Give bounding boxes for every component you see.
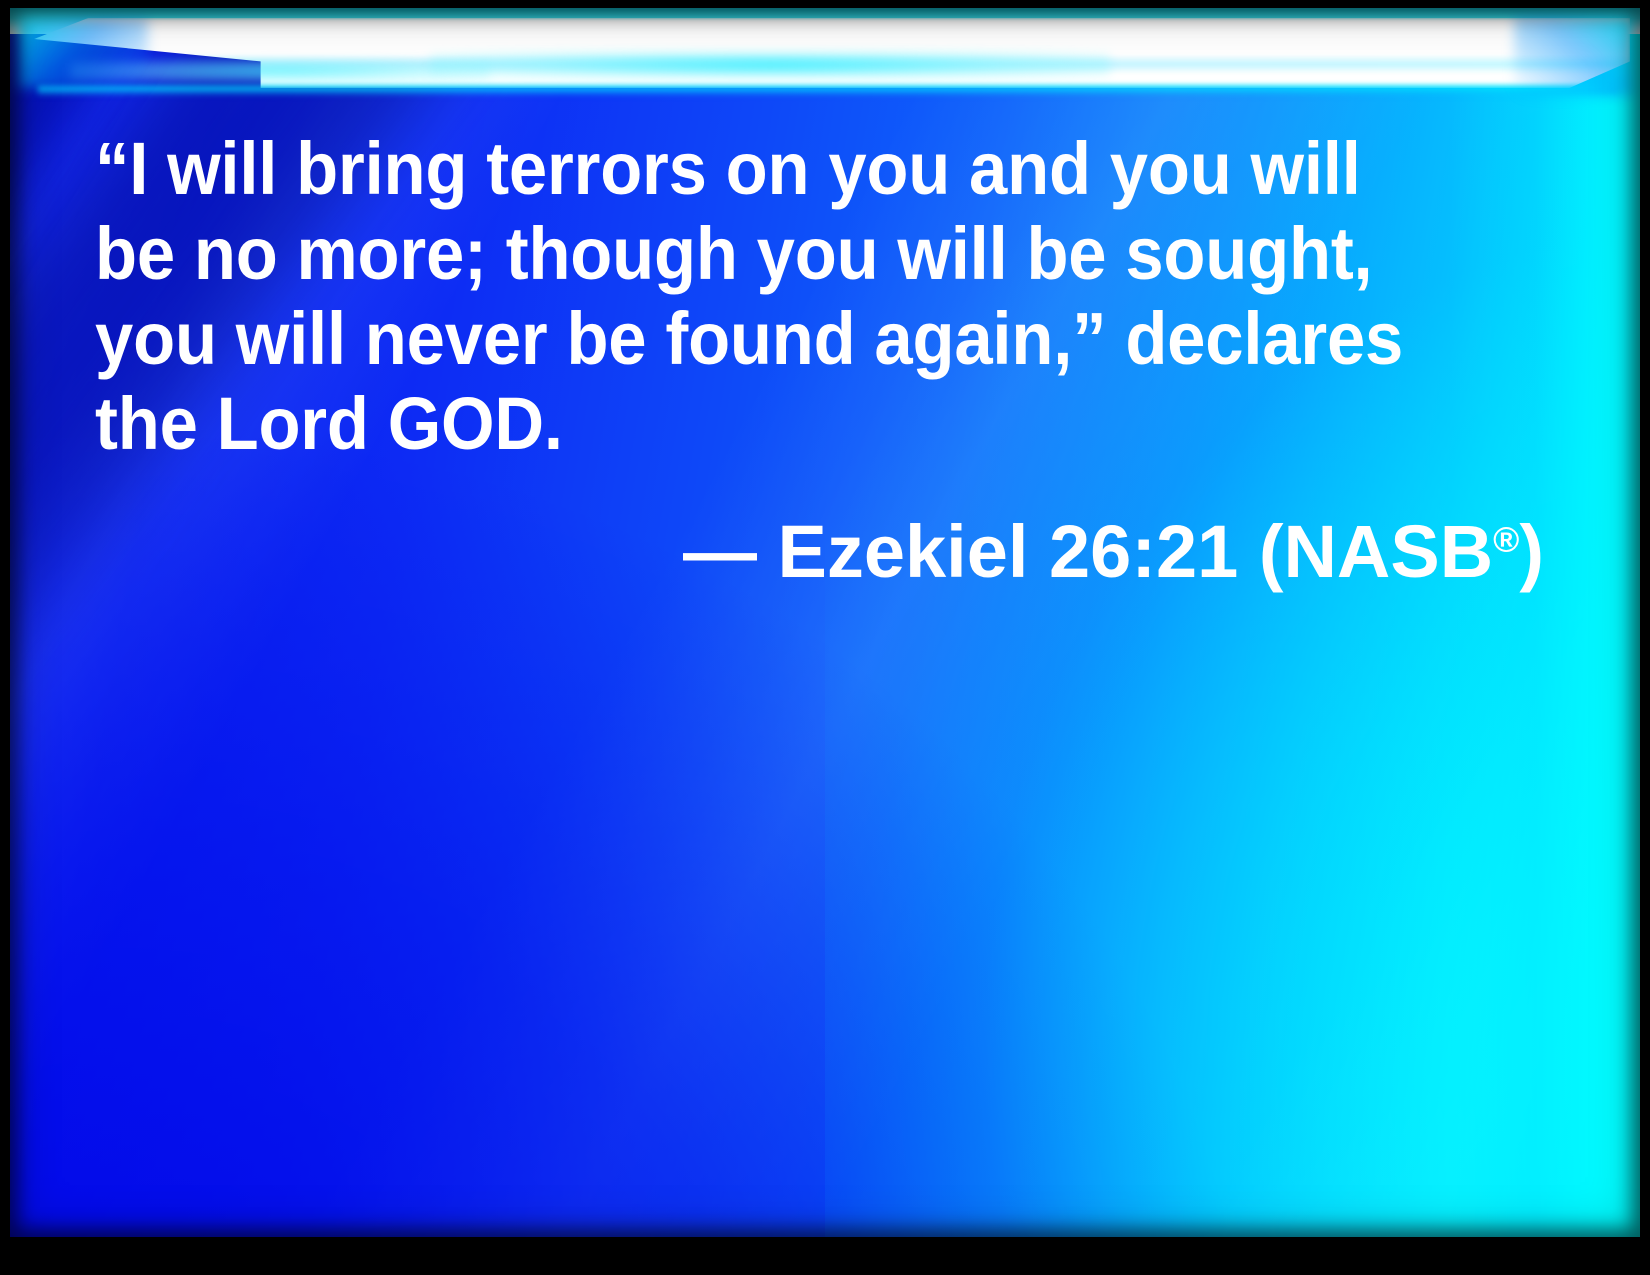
verse-text-block: “I will bring terrors on you and you wil…	[95, 126, 1550, 592]
slide-artwork-panel: “I will bring terrors on you and you wil…	[10, 8, 1640, 1237]
verse-reference: — Ezekiel 26:21 (NASB®)	[95, 512, 1550, 592]
scripture-quote-slide: “I will bring terrors on you and you wil…	[0, 0, 1650, 1275]
verse-body-text: “I will bring terrors on you and you wil…	[95, 126, 1448, 466]
verse-reference-suffix: )	[1519, 510, 1544, 593]
registered-trademark-icon: ®	[1493, 519, 1519, 559]
verse-reference-prefix: — Ezekiel 26:21 (NASB	[683, 510, 1493, 593]
